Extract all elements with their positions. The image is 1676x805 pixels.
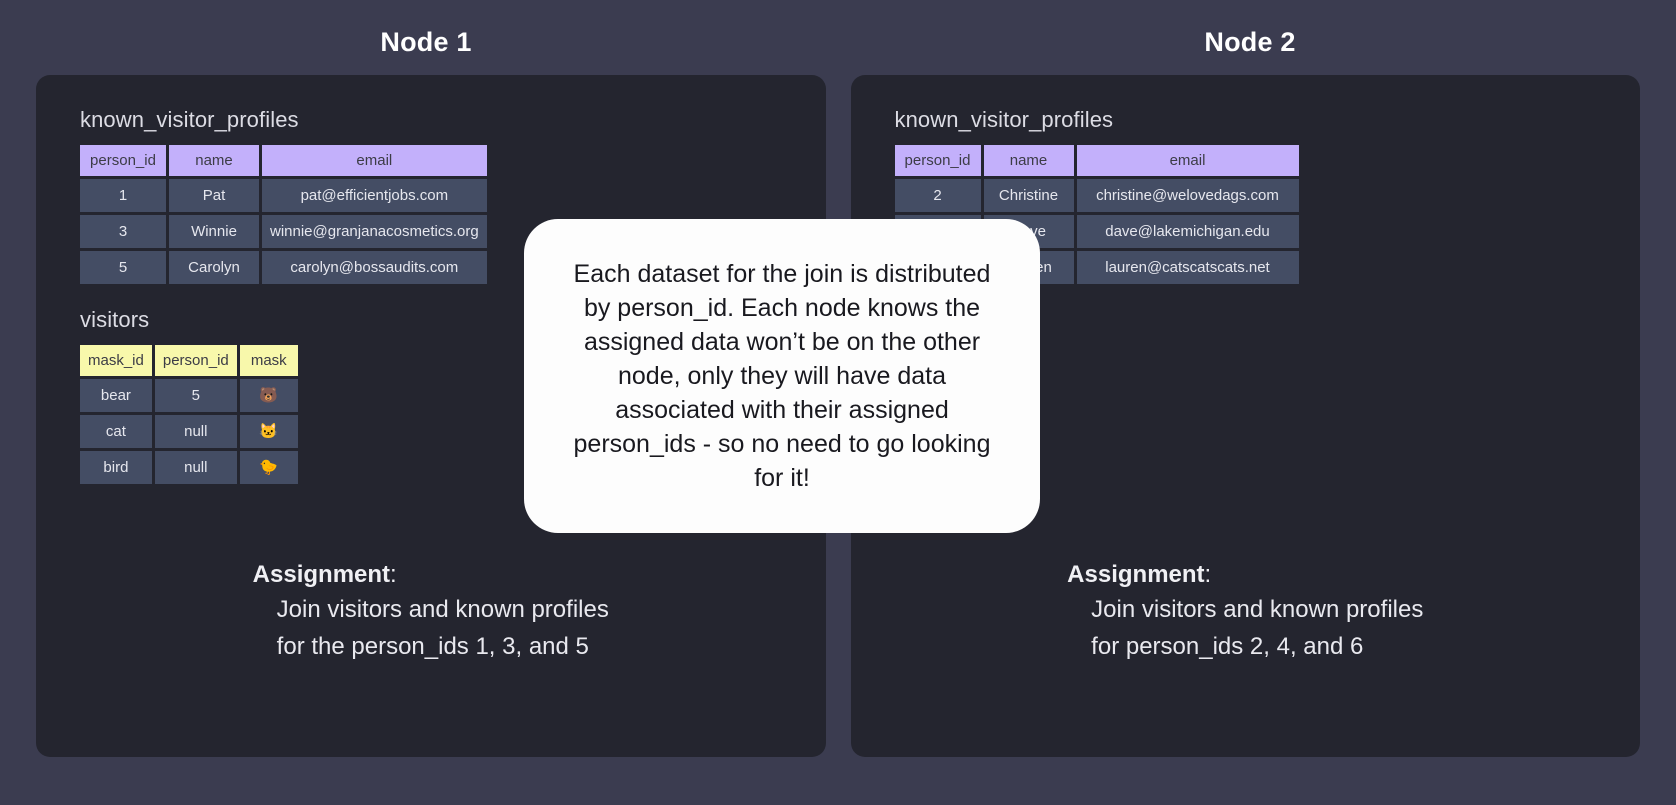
column-header-email: email (1077, 145, 1299, 176)
cell-email: winnie@granjanacosmetics.org (262, 215, 487, 248)
node-1-visitors-table: mask_id person_id mask bear 5 🐻 cat null (77, 342, 301, 487)
cell-email: dave@lakemichigan.edu (1077, 215, 1299, 248)
cell-name: Pat (169, 179, 259, 212)
bear-icon: 🐻 (240, 379, 298, 412)
cell-mask-id: cat (80, 415, 152, 448)
cell-person-id: 3 (80, 215, 166, 248)
cell-person-id: 2 (895, 179, 981, 212)
node-1-profiles-caption: known_visitor_profiles (80, 107, 826, 133)
column-header-name: name (984, 145, 1074, 176)
node-titles-row: Node 1 Node 2 (0, 22, 1676, 66)
callout-text: Each dataset for the join is distributed… (560, 257, 1004, 495)
table-row: cat null 🐱 (80, 415, 298, 448)
column-header-email: email (262, 145, 487, 176)
table-row: bird null 🐤 (80, 451, 298, 484)
cell-person-id: 5 (155, 379, 237, 412)
assignment-colon: : (1205, 561, 1212, 588)
cell-email: lauren@catscatscats.net (1077, 251, 1299, 284)
node-2-assignment-title: Assignment: (1067, 558, 1423, 592)
node-2-assignment-line-2: for person_ids 2, 4, and 6 (1067, 629, 1423, 665)
cell-email: christine@welovedags.com (1077, 179, 1299, 212)
column-header-mask-id: mask_id (80, 345, 152, 376)
column-header-person-id: person_id (155, 345, 237, 376)
node-1-assignment-line-2: for the person_ids 1, 3, and 5 (253, 629, 609, 665)
column-header-person-id: person_id (80, 145, 166, 176)
cell-person-id: null (155, 415, 237, 448)
cell-mask-id: bird (80, 451, 152, 484)
table-row: bear 5 🐻 (80, 379, 298, 412)
cell-name: Carolyn (169, 251, 259, 284)
cell-person-id: 1 (80, 179, 166, 212)
node-1-assignment: Assignment: Join visitors and known prof… (36, 558, 826, 665)
column-header-person-id: person_id (895, 145, 981, 176)
node-2-assignment-line-1: Join visitors and known profiles (1067, 592, 1423, 628)
table-row: 5 Carolyn carolyn@bossaudits.com (80, 251, 487, 284)
cell-email: carolyn@bossaudits.com (262, 251, 487, 284)
table-header-row: person_id name email (895, 145, 1299, 176)
callout-bubble: Each dataset for the join is distributed… (524, 219, 1040, 533)
cell-person-id: 5 (80, 251, 166, 284)
node-1-title: Node 1 (36, 22, 816, 66)
cell-mask-id: bear (80, 379, 152, 412)
cell-person-id: null (155, 451, 237, 484)
cell-name: Christine (984, 179, 1074, 212)
table-header-row: mask_id person_id mask (80, 345, 298, 376)
cell-email: pat@efficientjobs.com (262, 179, 487, 212)
table-header-row: person_id name email (80, 145, 487, 176)
cat-icon: 🐱 (240, 415, 298, 448)
node-1-assignment-title: Assignment: (253, 558, 609, 592)
node-1-assignment-line-1: Join visitors and known profiles (253, 592, 609, 628)
bird-icon: 🐤 (240, 451, 298, 484)
table-row: 2 Christine christine@welovedags.com (895, 179, 1299, 212)
column-header-mask: mask (240, 345, 298, 376)
cell-name: Winnie (169, 215, 259, 248)
node-2-profiles-caption: known_visitor_profiles (895, 107, 1641, 133)
assignment-colon: : (390, 561, 397, 588)
assignment-label: Assignment (1067, 561, 1204, 588)
node-2-assignment: Assignment: Join visitors and known prof… (851, 558, 1641, 665)
column-header-name: name (169, 145, 259, 176)
assignment-label: Assignment (253, 561, 390, 588)
node-2-title: Node 2 (860, 22, 1640, 66)
node-1-profiles-table: person_id name email 1 Pat pat@efficient… (77, 142, 490, 287)
table-row: 3 Winnie winnie@granjanacosmetics.org (80, 215, 487, 248)
table-row: 1 Pat pat@efficientjobs.com (80, 179, 487, 212)
